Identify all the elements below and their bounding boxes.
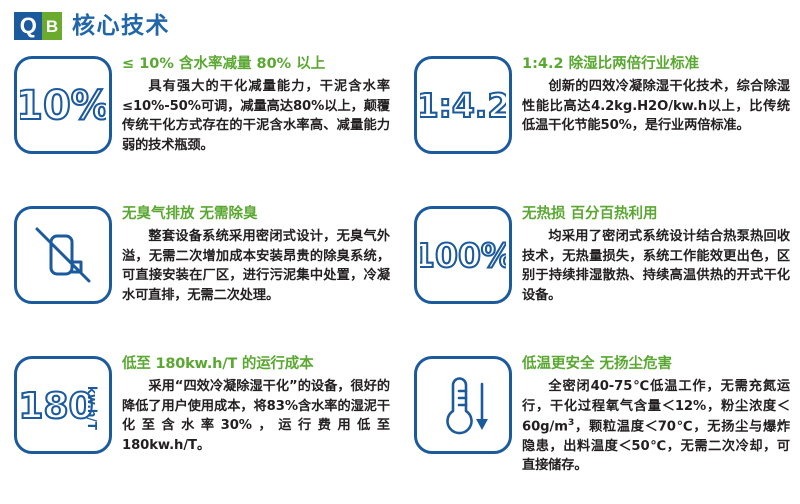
card-text-block: 低温更安全 无扬尘危害 全密闭40-75℃低温工作，无需充氮运行，干化过程氧气含… — [512, 352, 790, 476]
svg-text:kw.h/T: kw.h/T — [85, 386, 99, 431]
card-body: 全密闭40-75℃低温工作，无需充氮运行，干化过程氧气含量＜12%，粉尘浓度＜6… — [522, 377, 790, 475]
feature-card-no-heat-loss: 100% 无热损 百分百热利用 均采用了密闭式系统设计结合热泵热回收技术，无热量… — [400, 196, 800, 346]
svg-text:100%: 100% — [420, 236, 506, 275]
card-heading: 低至 180kw.h/T 的运行成本 — [122, 356, 390, 373]
card-heading: 无热损 百分百热利用 — [522, 206, 790, 223]
card-heading: ≤ 10% 含水率减量 80% 以上 — [122, 56, 390, 73]
page-header: Q B 核心技术 — [0, 0, 800, 46]
svg-text:180: 180 — [20, 386, 94, 427]
energy-180-kwh-icon: 180 kw.h/T — [14, 356, 112, 454]
hundred-percent-icon: 100% — [414, 206, 512, 304]
feature-card-low-temperature: 低温更安全 无扬尘危害 全密闭40-75℃低温工作，无需充氮运行，干化过程氧气含… — [400, 346, 800, 496]
svg-text:10%: 10% — [20, 83, 106, 129]
card-text-block: 无热损 百分百热利用 均采用了密闭式系统设计结合热泵热回收技术，无热量损失，系统… — [512, 202, 790, 305]
logo-letter-b: B — [42, 12, 62, 40]
brand-logo: Q B — [14, 12, 62, 40]
feature-card-no-odor: 无臭气排放 无需除臭 整套设备系统采用密闭式设计，无臭气外溢，无需二次增加成本安… — [0, 196, 400, 346]
logo-letter-q: Q — [14, 12, 42, 40]
feature-card-dehumidify-ratio: 1:4.2 1:4.2 除湿比两倍行业标准 创新的四效冷凝除湿干化技术，综合除湿… — [400, 46, 800, 196]
feature-card-water-content: 10% ≤ 10% 含水率减量 80% 以上 具有强大的干化减量能力，干泥含水率… — [0, 46, 400, 196]
card-body: 采用“四效冷凝除湿干化”的设备，很好的降低了用户使用成本，将83%含水率的湿泥干… — [122, 377, 390, 455]
card-heading: 低温更安全 无扬尘危害 — [522, 356, 790, 373]
ratio-one-to-four-point-two-icon: 1:4.2 — [414, 56, 512, 154]
card-body: 整套设备系统采用密闭式设计，无臭气外溢，无需二次增加成本安装昂贵的除臭系统，可直… — [122, 227, 390, 305]
card-heading: 1:4.2 除湿比两倍行业标准 — [522, 56, 790, 73]
card-text-block: 低至 180kw.h/T 的运行成本 采用“四效冷凝除湿干化”的设备，很好的降低… — [112, 352, 390, 455]
ten-percent-icon: 10% — [14, 56, 112, 154]
no-odor-icon — [14, 206, 112, 304]
card-text-block: 无臭气排放 无需除臭 整套设备系统采用密闭式设计，无臭气外溢，无需二次增加成本安… — [112, 202, 390, 305]
card-body: 具有强大的干化减量能力，干泥含水率≤10%-50%可调，减量高达80%以上，颠覆… — [122, 77, 390, 155]
feature-card-running-cost: 180 kw.h/T 低至 180kw.h/T 的运行成本 采用“四效冷凝除湿干… — [0, 346, 400, 496]
card-body: 创新的四效冷凝除湿干化技术，综合除湿性能比高达4.2kg.H2O/kw.h以上，… — [522, 77, 790, 135]
card-heading: 无臭气排放 无需除臭 — [122, 206, 390, 223]
card-body: 均采用了密闭式系统设计结合热泵热回收技术，无热量损失，系统工作能效更出色，区别于… — [522, 227, 790, 305]
svg-text:1:4.2: 1:4.2 — [420, 86, 506, 125]
low-temperature-icon — [414, 356, 512, 454]
card-text-block: ≤ 10% 含水率减量 80% 以上 具有强大的干化减量能力，干泥含水率≤10%… — [112, 52, 390, 155]
card-text-block: 1:4.2 除湿比两倍行业标准 创新的四效冷凝除湿干化技术，综合除湿性能比高达4… — [512, 52, 790, 136]
feature-cards-grid: 10% ≤ 10% 含水率减量 80% 以上 具有强大的干化减量能力，干泥含水率… — [0, 46, 800, 496]
page-title: 核心技术 — [72, 15, 170, 38]
